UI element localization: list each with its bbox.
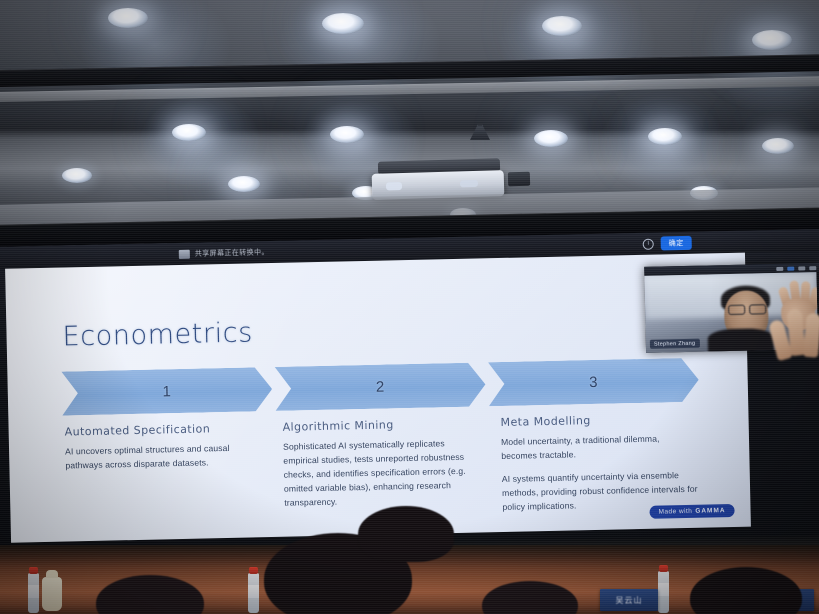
audience-head [482,581,578,614]
participant-torso [708,328,775,353]
chevron-number: 1 [162,383,171,400]
ceiling-lamp [62,168,92,183]
bottle-label [248,585,259,598]
step-body: Model uncertainty, a traditional dilemma… [501,432,699,515]
placard-text: 吴云山 [616,595,643,606]
bottle-label [28,585,39,598]
step-chevron-row: 1 2 3 [61,358,702,416]
thermos-cup [42,577,62,611]
step-heading: Meta Modelling [500,412,696,429]
presentation-slide: Econometrics 1 2 3 Automated Specificati… [5,253,751,543]
ceiling-lamp [228,176,260,192]
ceiling-lamp [752,30,792,50]
notification-text: 共享屏幕正在转换中。 [195,247,269,259]
ceiling-lamp [542,16,582,36]
chevron-step-1[interactable]: 1 [61,367,272,416]
notification-actions: i 确定 [643,236,692,251]
gamma-watermark-badge[interactable]: Made with GAMMA [649,504,734,519]
projector-mount [470,124,490,140]
lamp-glow [140,96,260,188]
bottle-cap-icon [249,567,258,574]
projector-vent-icon [460,180,478,187]
water-bottle [248,573,259,613]
bottle-cap-icon [659,565,668,572]
minimize-icon[interactable] [776,266,783,270]
slide-title: Econometrics [62,317,253,352]
ceiling-lamp [330,126,364,143]
share-notification: 共享屏幕正在转换中。 [179,247,269,259]
step-body: Sophisticated AI systematically replicat… [283,436,480,510]
ceiling-lamp [762,138,794,154]
audience-head [690,567,802,614]
chevron-number: 3 [589,373,598,390]
projector-lens-icon [386,182,402,190]
chevron-number: 2 [376,378,385,395]
info-circle-icon[interactable]: i [643,238,654,249]
glasses-icon [728,304,766,313]
chevron-step-2[interactable]: 2 [275,362,486,411]
watermark-brand: GAMMA [695,507,725,515]
step-body: AI uncovers optimal structures and causa… [65,441,262,473]
confirm-button[interactable]: 确定 [661,236,692,251]
bottle-label [658,583,669,596]
restore-icon[interactable] [798,266,805,270]
waving-hand-overflow [770,307,819,400]
water-bottle [28,573,39,613]
step-paragraph: AI uncovers optimal structures and causa… [65,441,262,473]
presenter-head-silhouette [358,506,454,562]
bottle-cap-icon [29,567,38,574]
step-paragraph: Model uncertainty, a traditional dilemma… [501,432,698,464]
ceiling [0,0,819,248]
ceiling-lamp [534,130,568,147]
step-heading: Automated Specification [65,421,261,438]
close-icon[interactable] [809,266,816,270]
participant-name-label: Stephen Zhang [650,339,700,349]
step-paragraph: Sophisticated AI systematically replicat… [283,436,480,510]
ceiling-lamp [322,13,364,34]
name-placard: 吴云山 [600,589,658,611]
ceiling-speaker [508,172,530,187]
screen-share-icon [179,249,190,258]
step-heading: Algorithmic Mining [282,417,478,434]
watermark-prefix: Made with [659,508,693,516]
step-column-1: Automated Specification AI uncovers opti… [65,421,263,533]
water-bottle [658,571,669,613]
audience-head [96,575,204,614]
chevron-step-3[interactable]: 3 [488,358,699,407]
conference-room-photo: 共享屏幕正在转换中。 i 确定 Econometrics 1 2 3 [0,0,819,614]
ceiling-lamp [172,124,206,141]
ceiling-lamp [108,8,148,28]
maximize-icon[interactable] [787,266,794,270]
ceiling-lamp [648,128,682,145]
